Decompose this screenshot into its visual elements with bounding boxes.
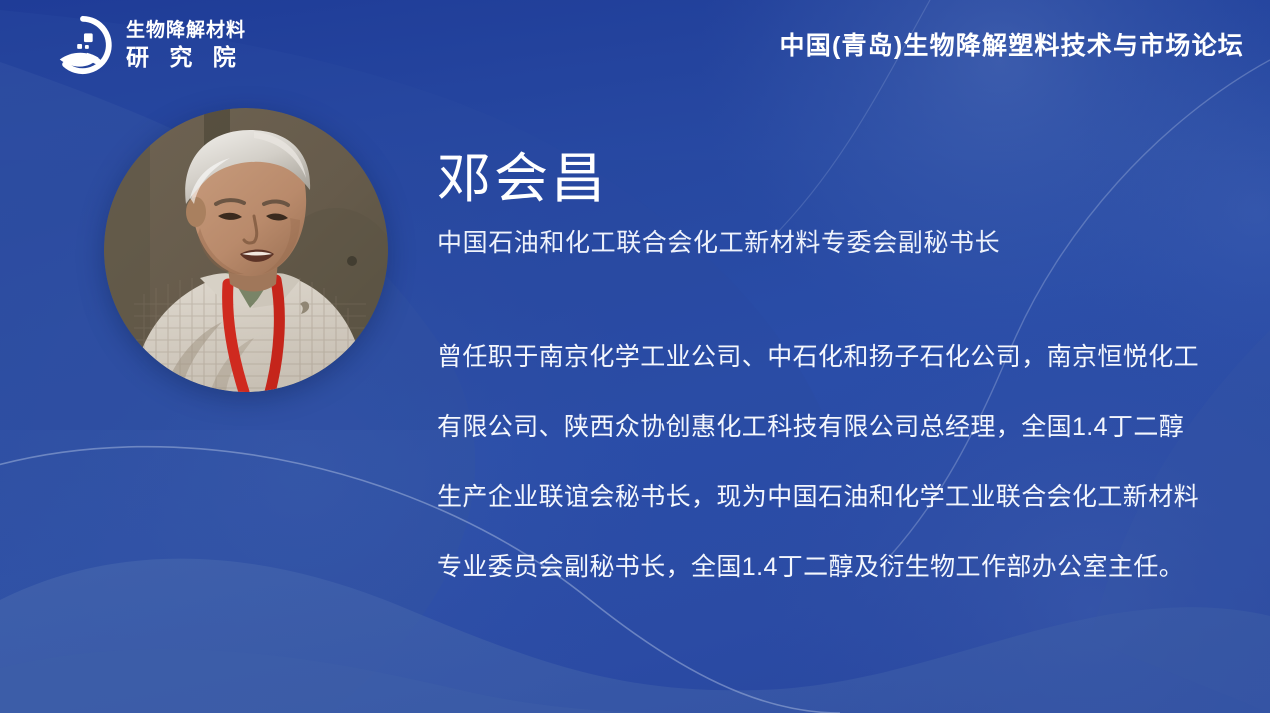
speaker-biography: 曾任职于南京化学工业公司、中石化和扬子石化公司，南京恒悦化工 有限公司、陕西众协… (437, 322, 1217, 602)
bio-line: 有限公司、陕西众协创惠化工科技有限公司总经理，全国1.4丁二醇 (437, 392, 1217, 462)
institute-name-line1: 生物降解材料 (126, 21, 246, 40)
speaker-title: 中国石油和化工联合会化工新材料专委会副秘书长 (437, 223, 1207, 259)
speaker-name: 邓会昌 (437, 150, 1207, 209)
institute-logo-text: 生物降解材料 研 究 院 (126, 21, 246, 69)
institute-name-line2: 研 究 院 (126, 46, 246, 69)
speaker-identity: 邓会昌 中国石油和化工联合会化工新材料专委会副秘书长 (437, 150, 1207, 259)
slide-header: 生物降解材料 研 究 院 中国(青岛)生物降解塑料技术与市场论坛 (0, 0, 1270, 92)
bio-line: 生产企业联谊会秘书长，现为中国石油和化学工业联合会化工新材料 (437, 462, 1217, 532)
speaker-intro-slide: 生物降解材料 研 究 院 中国(青岛)生物降解塑料技术与市场论坛 (0, 0, 1270, 713)
speaker-photo-image (104, 108, 388, 392)
institute-logo-icon (52, 14, 114, 76)
bio-line: 曾任职于南京化学工业公司、中石化和扬子石化公司，南京恒悦化工 (437, 322, 1217, 392)
institute-logo: 生物降解材料 研 究 院 (52, 14, 246, 76)
forum-title: 中国(青岛)生物降解塑料技术与市场论坛 (780, 26, 1244, 62)
bio-line: 专业委员会副秘书长，全国1.4丁二醇及衍生物工作部办公室主任。 (437, 532, 1217, 602)
speaker-photo (104, 108, 388, 392)
